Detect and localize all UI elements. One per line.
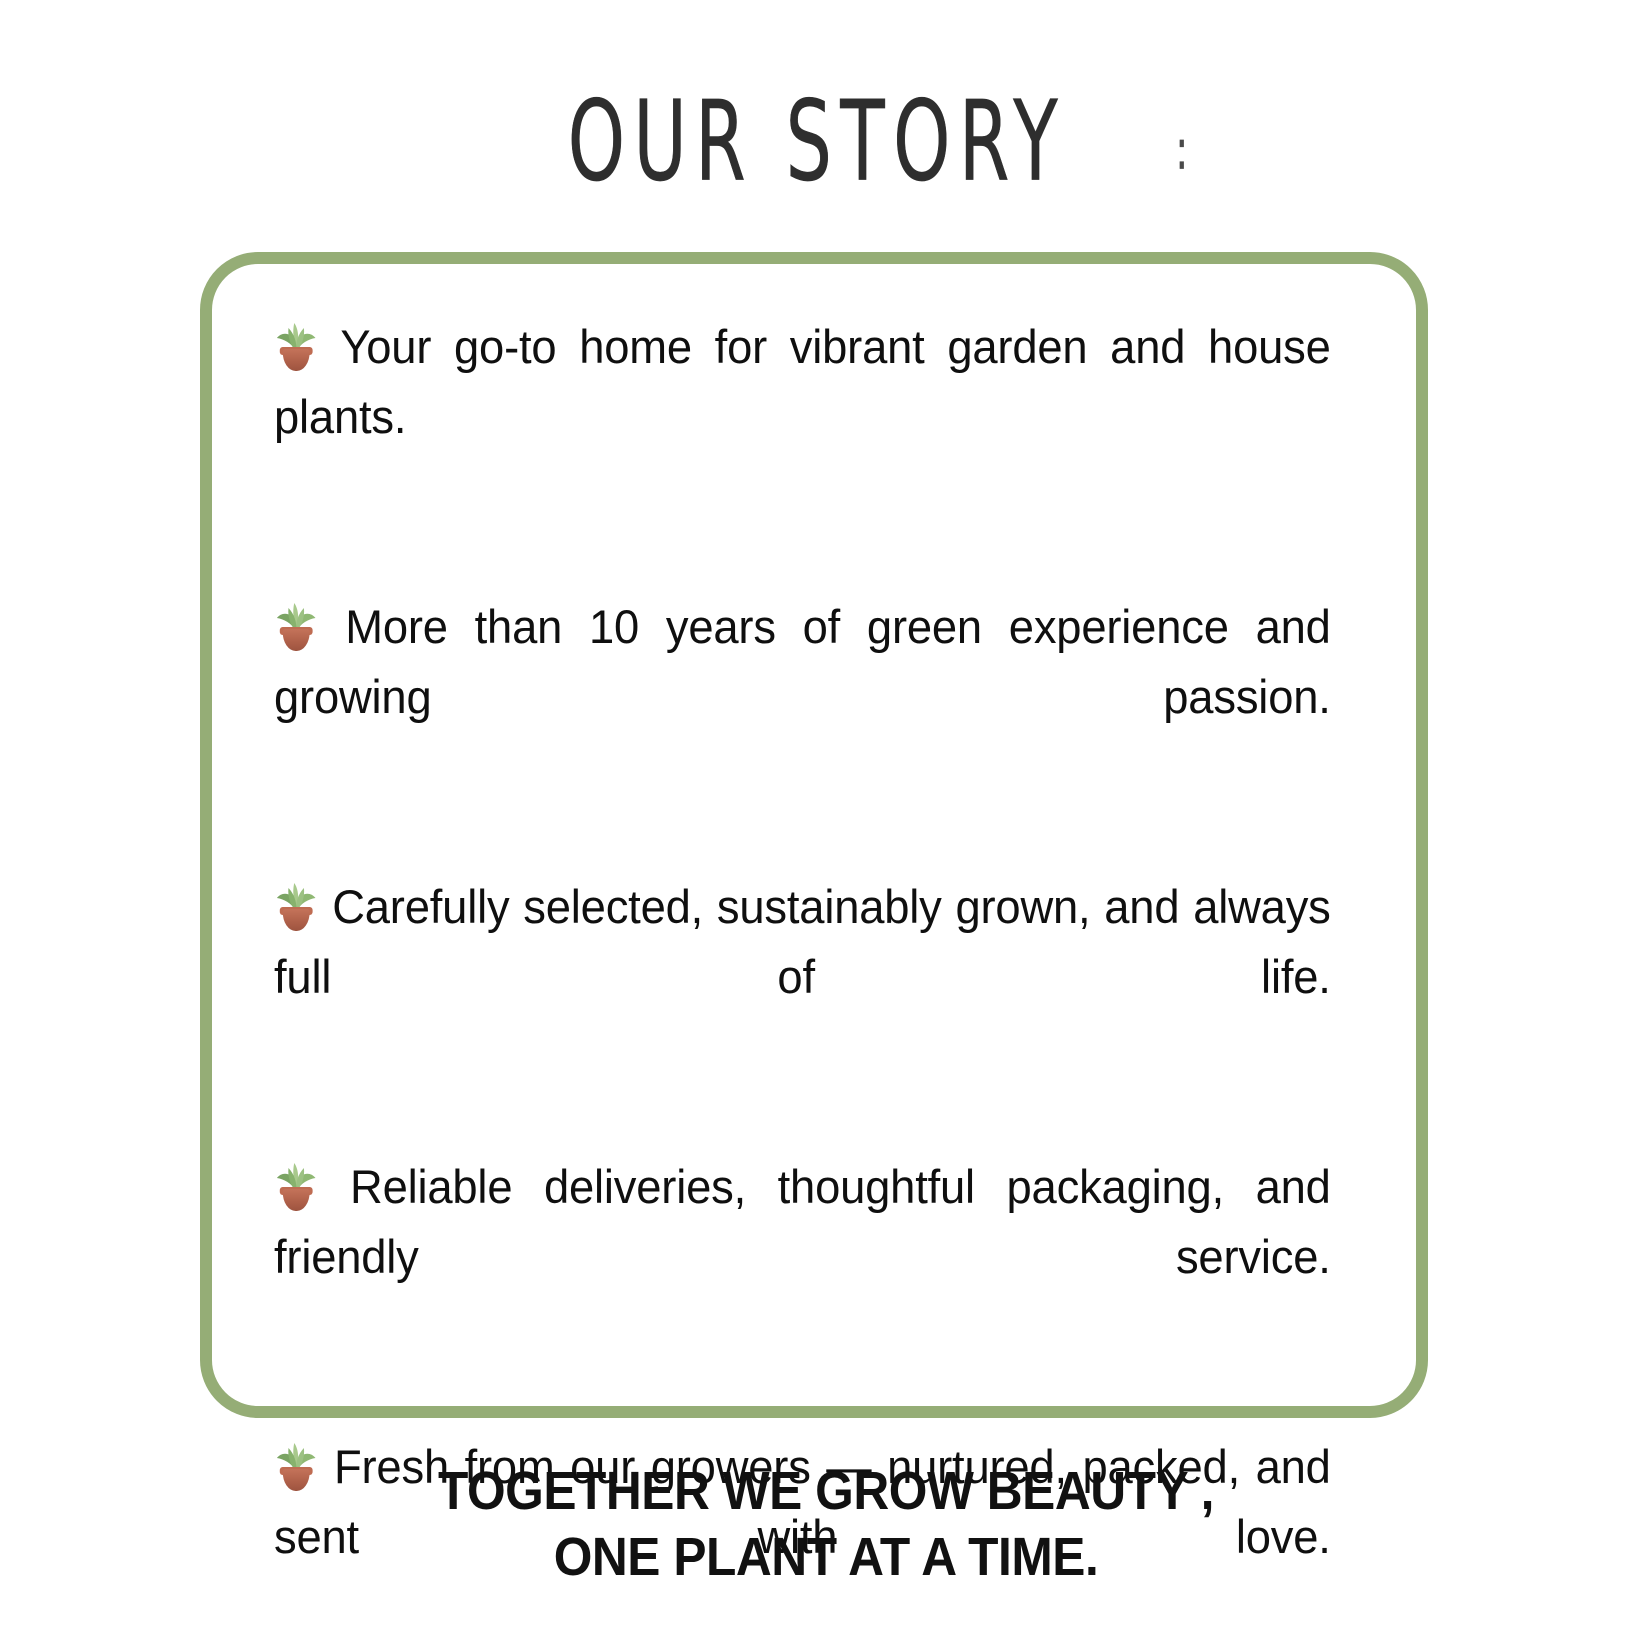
list-item: Reliable deliveries, thoughtful packagin… [274, 1152, 1331, 1362]
tagline: TOGETHER WE GROW BEAUTY , ONE PLANT AT A… [0, 1458, 1652, 1590]
page-title-colon: : [1176, 123, 1188, 178]
pot-bowl [283, 909, 310, 931]
tagline-line-2: ONE PLANT AT A TIME. [66, 1524, 1586, 1590]
pot-bowl [283, 629, 310, 651]
story-card: Your go-to home for vibrant garden and h… [200, 252, 1428, 1418]
potted-plant-icon [274, 321, 318, 373]
story-poster: OUR STORY: Your go-to home for vibrant g… [0, 0, 1652, 1652]
list-item: More than 10 years of green experience a… [274, 592, 1331, 802]
tagline-line-1: TOGETHER WE GROW BEAUTY , [66, 1458, 1586, 1524]
page-title-area: OUR STORY: [0, 86, 1652, 206]
story-card-content: Your go-to home for vibrant garden and h… [274, 312, 1329, 1642]
list-item: Carefully selected, sustainably grown, a… [274, 872, 1331, 1082]
potted-plant-icon [274, 601, 318, 653]
list-item-text: Reliable deliveries, thoughtful packagin… [274, 1160, 1331, 1283]
pot-bowl [283, 349, 310, 371]
list-item-text: Your go-to home for vibrant garden and h… [274, 320, 1331, 443]
list-item: Your go-to home for vibrant garden and h… [274, 312, 1331, 522]
list-item-text: Carefully selected, sustainably grown, a… [274, 880, 1331, 1003]
potted-plant-icon [274, 1161, 318, 1213]
list-item-text: More than 10 years of green experience a… [274, 600, 1331, 723]
pot-bowl [283, 1189, 310, 1211]
potted-plant-icon [274, 881, 318, 933]
page-title: OUR STORY [568, 86, 1066, 196]
